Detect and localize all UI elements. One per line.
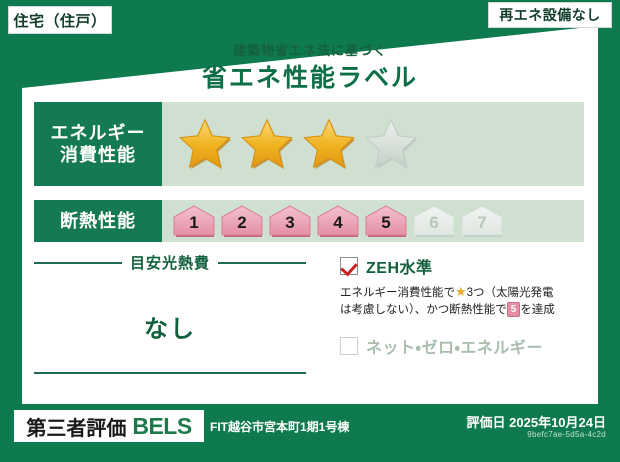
bels-logo: BELS <box>132 413 191 440</box>
page-title: 省エネ性能ラベル <box>0 58 620 94</box>
insulation-performance-label-text: 断熱性能 <box>60 210 136 233</box>
bels-plate: 第三者評価 BELS <box>14 410 204 442</box>
empty-checkbox-icon[interactable] <box>340 337 358 355</box>
insulation-grade-1: 1 <box>172 204 216 238</box>
net-zero-energy-label: ネット・ゼロ・エネルギー <box>366 334 543 358</box>
tab-building-type[interactable]: 住宅（住戸） <box>8 6 112 34</box>
insulation-grade-6: 6 <box>412 204 456 238</box>
insulation-grade-scale: 1234567 <box>172 204 504 238</box>
heading-rule-left <box>34 262 122 264</box>
energy-performance-label-line2: 消費性能 <box>60 144 136 167</box>
star-empty-icon <box>362 116 420 172</box>
checkmark-icon[interactable] <box>340 257 358 275</box>
utility-cost-block: 目安光熱費 なし <box>34 252 306 378</box>
star-filled-icon <box>176 116 234 172</box>
evaluation-date: 評価日 2025年10月24日 <box>467 412 606 431</box>
energy-performance-label: 住宅（住戸） 再エネ設備なし 建築物省エネ法に基づく 省エネ性能ラベル エネルギ… <box>0 0 620 462</box>
insulation-grade-value: 1 <box>189 214 198 238</box>
utility-cost-bottom-rule <box>34 372 306 374</box>
utility-cost-heading: 目安光熱費 <box>34 252 306 273</box>
insulation-performance-value: 1234567 <box>162 200 584 242</box>
insulation-grade-4: 4 <box>316 204 360 238</box>
net-zero-energy-row[interactable]: ネット・ゼロ・エネルギー <box>340 334 588 358</box>
zeh-block: ZEH水準 エネルギー消費性能で★3つ（太陽光発電は考慮しない）、かつ断熱性能で… <box>340 254 588 358</box>
insulation-performance-label: 断熱性能 <box>34 200 162 242</box>
energy-performance-row: エネルギー 消費性能 <box>34 102 584 186</box>
footer: 第三者評価 BELS FIT越谷市宮本町1期1号棟 評価日 2025年10月24… <box>0 404 620 462</box>
third-party-label: 第三者評価 <box>26 412 126 441</box>
insulation-grade-3: 3 <box>268 204 312 238</box>
evaluation-id: 9befc7ae-5d5a-4c2d <box>527 430 606 439</box>
energy-performance-label: エネルギー 消費性能 <box>34 102 162 186</box>
utility-cost-value: なし <box>34 309 306 344</box>
zeh-standard-description: エネルギー消費性能で★3つ（太陽光発電は考慮しない）、かつ断熱性能で5を達成 <box>340 282 588 320</box>
tab-renewable-status[interactable]: 再エネ設備なし <box>488 2 612 28</box>
insulation-grade-value: 3 <box>285 214 294 238</box>
insulation-performance-row: 断熱性能 1234567 <box>34 200 584 242</box>
insulation-grade-value: 4 <box>333 214 342 238</box>
insulation-grade-value: 5 <box>381 214 390 238</box>
star-rating <box>176 116 420 172</box>
energy-performance-value <box>162 102 584 186</box>
star-filled-icon <box>300 116 358 172</box>
utility-cost-heading-text: 目安光熱費 <box>130 252 210 273</box>
zeh-standard-label: ZEH水準 <box>366 254 433 278</box>
energy-performance-label-line1: エネルギー <box>51 122 146 145</box>
tab-renewable-status-label: 再エネ設備なし <box>499 5 601 25</box>
zeh-desc-part3: は考慮しない）、かつ断熱性能で <box>340 304 507 316</box>
zeh-desc-part4: を達成 <box>520 304 555 316</box>
heading-rule-right <box>218 262 306 264</box>
label-subtitle: 建築物省エネ法に基づく <box>0 40 620 59</box>
insulation-grade-value: 2 <box>237 214 246 238</box>
zeh-standard-row[interactable]: ZEH水準 <box>340 254 588 278</box>
zeh-desc-part2: 3つ（太陽光発電 <box>467 287 554 299</box>
insulation-grade-7: 7 <box>460 204 504 238</box>
star-icon: ★ <box>455 284 467 299</box>
insulation-grade-badge: 5 <box>507 302 521 317</box>
tab-building-type-label: 住宅（住戸） <box>13 10 106 31</box>
insulation-grade-5: 5 <box>364 204 408 238</box>
property-name: FIT越谷市宮本町1期1号棟 <box>210 418 349 435</box>
star-filled-icon <box>238 116 296 172</box>
insulation-grade-value: 6 <box>429 214 438 238</box>
insulation-grade-value: 7 <box>477 214 486 238</box>
zeh-desc-part1: エネルギー消費性能で <box>340 287 455 299</box>
insulation-grade-2: 2 <box>220 204 264 238</box>
